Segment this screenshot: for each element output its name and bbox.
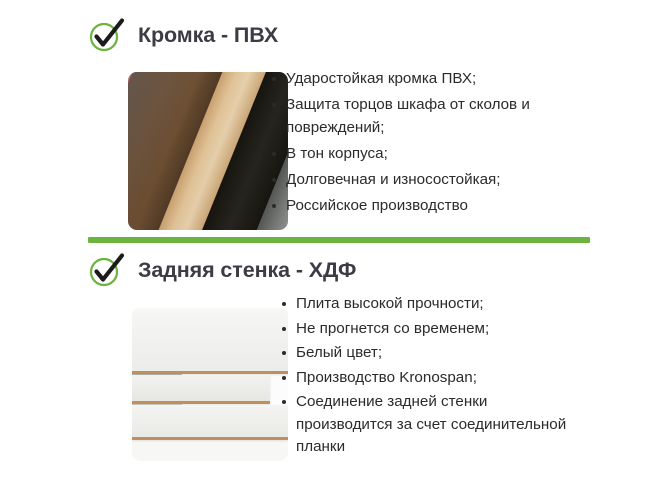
list-item: Долговечная и износостойкая; (272, 169, 572, 192)
page-title: Задняя стенка - ХДФ (88, 258, 356, 283)
board-lower-surface (132, 437, 288, 461)
hdf-board-top (132, 309, 288, 374)
hdf-board-middle (132, 375, 270, 404)
list-item: В тон корпуса; (272, 143, 572, 166)
check-circle-icon (88, 17, 126, 53)
feature-header-edge-pvc: Кромка - ПВХ (0, 14, 652, 56)
feature-bullet-list-back-panel-hdf: Плита высокой прочности; Не прогнется со… (282, 293, 582, 461)
feature-section-back-panel-hdf: Задняя стенка - ХДФ Плита высокой прочно… (0, 249, 652, 451)
list-item: Плита высокой прочности; (282, 293, 582, 316)
product-features-page: Кромка - ПВХ Ударостойкая кромка ПВХ; За… (0, 0, 652, 500)
feature-section-edge-pvc: Кромка - ПВХ Ударостойкая кромка ПВХ; За… (0, 14, 652, 214)
hdf-boards-photo (132, 307, 288, 461)
list-item: Защита торцов шкафа от сколов и поврежде… (272, 94, 572, 139)
pvc-edge-banding-photo (128, 72, 288, 230)
list-item: Производство Kronospan; (282, 367, 582, 390)
list-item: Ударостойкая кромка ПВХ; (272, 68, 572, 91)
feature-body-edge-pvc: Ударостойкая кромка ПВХ; Защита торцов ш… (0, 56, 652, 214)
hdf-board-bottom (132, 405, 288, 440)
list-item: Соединение задней стенки производится за… (282, 391, 582, 459)
check-circle-icon (88, 252, 126, 288)
feature-body-back-panel-hdf: Плита высокой прочности; Не прогнется со… (0, 291, 652, 451)
list-item: Белый цвет; (282, 342, 582, 365)
list-item: Российское производство (272, 195, 572, 218)
section-divider (88, 237, 590, 243)
feature-bullet-list-edge-pvc: Ударостойкая кромка ПВХ; Защита торцов ш… (272, 68, 572, 221)
feature-header-back-panel-hdf: Задняя стенка - ХДФ (0, 249, 652, 291)
list-item: Не прогнется со временем; (282, 318, 582, 341)
